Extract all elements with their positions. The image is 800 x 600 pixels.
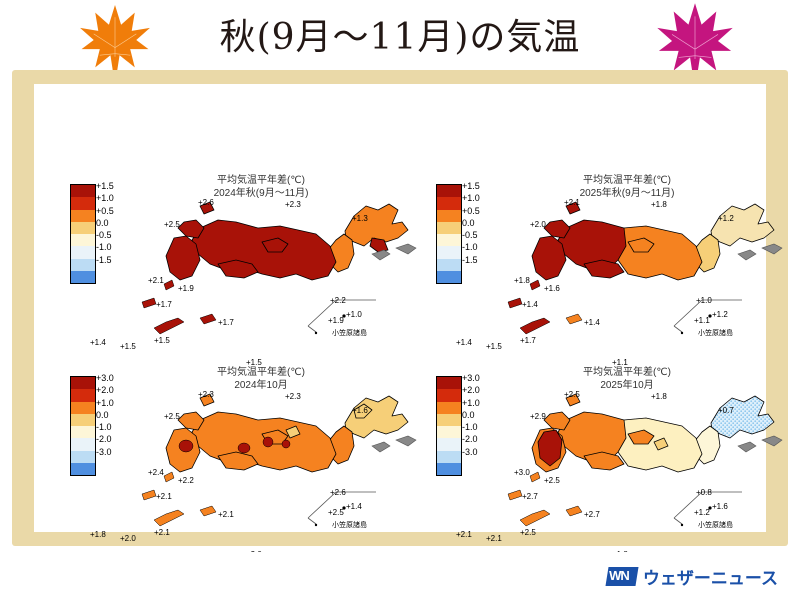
- legend-tick: +1.0: [96, 397, 140, 409]
- station-label: +2.1: [456, 530, 472, 539]
- station-label: +2.3: [198, 390, 214, 399]
- legend-tick: 0.0: [462, 217, 506, 229]
- ogasawara-value: +1.6: [712, 502, 728, 511]
- legend-tick: -1.5: [96, 254, 140, 266]
- legend-tick: +1.0: [96, 192, 140, 204]
- legend-tick: +1.5: [96, 180, 140, 192]
- station-label: +1.4: [522, 300, 538, 309]
- station-label: +2.5: [564, 390, 580, 399]
- panel-2-legend-labels: +1.5 +1.0 +0.5 0.0 -0.5 -1.0 -1.5: [462, 180, 506, 266]
- station-label: +2.1: [148, 276, 164, 285]
- panel-2-map: +2.1 +1.8 +1.2 +2.0 +1.8 +1.6 +1.4 +1.0 …: [506, 176, 786, 388]
- station-label: +2.3: [285, 392, 301, 401]
- legend-tick: +1.5: [462, 180, 506, 192]
- station-label: +1.5: [486, 342, 502, 351]
- content-frame-inner: 平均気温平年差(℃) 2024年秋(9月〜11月) +1.5 +1.0 +0.5…: [34, 84, 766, 532]
- station-label: +1.9: [178, 284, 194, 293]
- ogasawara-label: 小笠原諸島: [698, 520, 733, 530]
- station-label: +2.1: [154, 528, 170, 537]
- legend-tick: +1.0: [462, 397, 506, 409]
- station-label: +2.9: [530, 412, 546, 421]
- legend-tick: +3.0: [462, 372, 506, 384]
- ogasawara-value: +1.2: [712, 310, 728, 319]
- wn-mark-text: WN: [609, 568, 629, 583]
- station-label: +2.5: [544, 476, 560, 485]
- legend-tick: 0.0: [462, 409, 506, 421]
- station-label: +1.7: [156, 300, 172, 309]
- station-label: +2.5: [520, 528, 536, 537]
- station-label: +1.4: [456, 338, 472, 347]
- station-label: +1.8: [514, 276, 530, 285]
- legend-tick: -2.0: [96, 433, 140, 445]
- station-label: +2.1: [564, 198, 580, 207]
- panel-2-legend-bar: [436, 184, 462, 284]
- station-label: +1.0: [696, 296, 712, 305]
- station-label: +2.7: [584, 510, 600, 519]
- panel-1-legend-bar: [70, 184, 96, 284]
- station-label: +1.7: [218, 318, 234, 327]
- panel-1-map: +2.6 +2.3 +1.3 +2.5 +2.1 +1.9 +1.7 +2.2 …: [140, 176, 420, 388]
- station-label: +1.8: [651, 200, 667, 209]
- station-label: +1.5: [120, 342, 136, 351]
- station-label: +2.0: [530, 220, 546, 229]
- station-label: +1.6: [352, 406, 368, 415]
- station-label: +1.3: [352, 214, 368, 223]
- station-label: +1.2: [694, 508, 710, 517]
- station-label: +1.6: [544, 284, 560, 293]
- station-label: +2.7: [522, 492, 538, 501]
- header: 秋(9月〜11月)の気温: [0, 0, 800, 78]
- map-panel-1: 平均気温平年差(℃) 2024年秋(9月〜11月) +1.5 +1.0 +0.5…: [56, 168, 422, 392]
- panel-4-legend-labels: +3.0 +2.0 +1.0 0.0 -1.0 -2.0 -3.0: [462, 372, 506, 458]
- legend-tick: -3.0: [96, 446, 140, 458]
- legend-tick: +3.0: [96, 372, 140, 384]
- station-label: +1.8: [90, 530, 106, 539]
- weathernews-logo-text: ウェザーニュース: [643, 564, 778, 589]
- station-label: +1.5: [154, 336, 170, 345]
- station-label: +2.5: [328, 508, 344, 517]
- station-label: +0.7: [718, 406, 734, 415]
- legend-tick: -1.5: [462, 254, 506, 266]
- legend-tick: 0.0: [96, 409, 140, 421]
- station-label: +1.8: [651, 392, 667, 401]
- legend-tick: -1.0: [462, 241, 506, 253]
- station-label: +2.1: [156, 492, 172, 501]
- panel-4-map: +2.5 +1.8 +0.7 +2.9 +3.0 +2.5 +2.7 +0.8 …: [506, 368, 786, 580]
- station-label: +2.2: [178, 476, 194, 485]
- panel-1-legend-labels: +1.5 +1.0 +0.5 0.0 -0.5 -1.0 -1.5: [96, 180, 140, 266]
- legend-tick: +2.0: [462, 384, 506, 396]
- panel-4-legend-bar: [436, 376, 462, 476]
- station-label: +2.6: [198, 198, 214, 207]
- legend-tick: +2.0: [96, 384, 140, 396]
- station-label: +3.0: [514, 468, 530, 477]
- ogasawara-value: +1.4: [346, 502, 362, 511]
- panel-3-legend-bar: [70, 376, 96, 476]
- legend-tick: -0.5: [96, 229, 140, 241]
- panel-3-legend-labels: +3.0 +2.0 +1.0 0.0 -1.0 -2.0 -3.0: [96, 372, 140, 458]
- station-label: +2.1: [218, 510, 234, 519]
- wn-mark-icon: WN: [605, 567, 638, 586]
- station-label: +1.4: [584, 318, 600, 327]
- station-label: +2.5: [164, 412, 180, 421]
- legend-tick: +0.5: [462, 205, 506, 217]
- legend-tick: -2.0: [462, 433, 506, 445]
- ogasawara-label: 小笠原諸島: [698, 328, 733, 338]
- map-panel-4: 平均気温平年差(℃) 2025年10月 +3.0 +2.0 +1.0 0.0 -…: [422, 360, 788, 584]
- station-label: +2.1: [486, 534, 502, 543]
- legend-tick: +0.5: [96, 205, 140, 217]
- map-panel-2: 平均気温平年差(℃) 2025年秋(9月〜11月) +1.5 +1.0 +0.5…: [422, 168, 788, 392]
- ogasawara-label: 小笠原諸島: [332, 520, 367, 530]
- footer: WN ウェザーニュース: [0, 552, 800, 600]
- station-label: +1.2: [718, 214, 734, 223]
- station-label: +2.3: [285, 200, 301, 209]
- station-label: +2.6: [330, 488, 346, 497]
- station-label: +1.7: [520, 336, 536, 345]
- station-label: +2.0: [120, 534, 136, 543]
- poster-root: 秋(9月〜11月)の気温: [0, 0, 800, 600]
- station-label: +2.4: [148, 468, 164, 477]
- content-frame: 平均気温平年差(℃) 2024年秋(9月〜11月) +1.5 +1.0 +0.5…: [12, 70, 788, 546]
- panel-3-map: +2.3 +2.3 +1.6 +2.5 +2.4 +2.2 +2.1 +2.6 …: [140, 368, 420, 580]
- legend-tick: -1.0: [96, 241, 140, 253]
- map-panel-3: 平均気温平年差(℃) 2024年10月 +3.0 +2.0 +1.0 0.0 -…: [56, 360, 422, 584]
- station-label: +1.4: [90, 338, 106, 347]
- legend-tick: -3.0: [462, 446, 506, 458]
- legend-tick: -1.0: [96, 421, 140, 433]
- weathernews-logo[interactable]: WN ウェザーニュース: [607, 564, 778, 589]
- station-label: +1.9: [328, 316, 344, 325]
- station-label: +2.2: [330, 296, 346, 305]
- station-label: +2.5: [164, 220, 180, 229]
- legend-tick: -0.5: [462, 229, 506, 241]
- legend-tick: +1.0: [462, 192, 506, 204]
- ogasawara-label: 小笠原諸島: [332, 328, 367, 338]
- legend-tick: 0.0: [96, 217, 140, 229]
- ogasawara-value: +1.0: [346, 310, 362, 319]
- station-label: +0.8: [696, 488, 712, 497]
- station-label: +1.1: [694, 316, 710, 325]
- legend-tick: -1.0: [462, 421, 506, 433]
